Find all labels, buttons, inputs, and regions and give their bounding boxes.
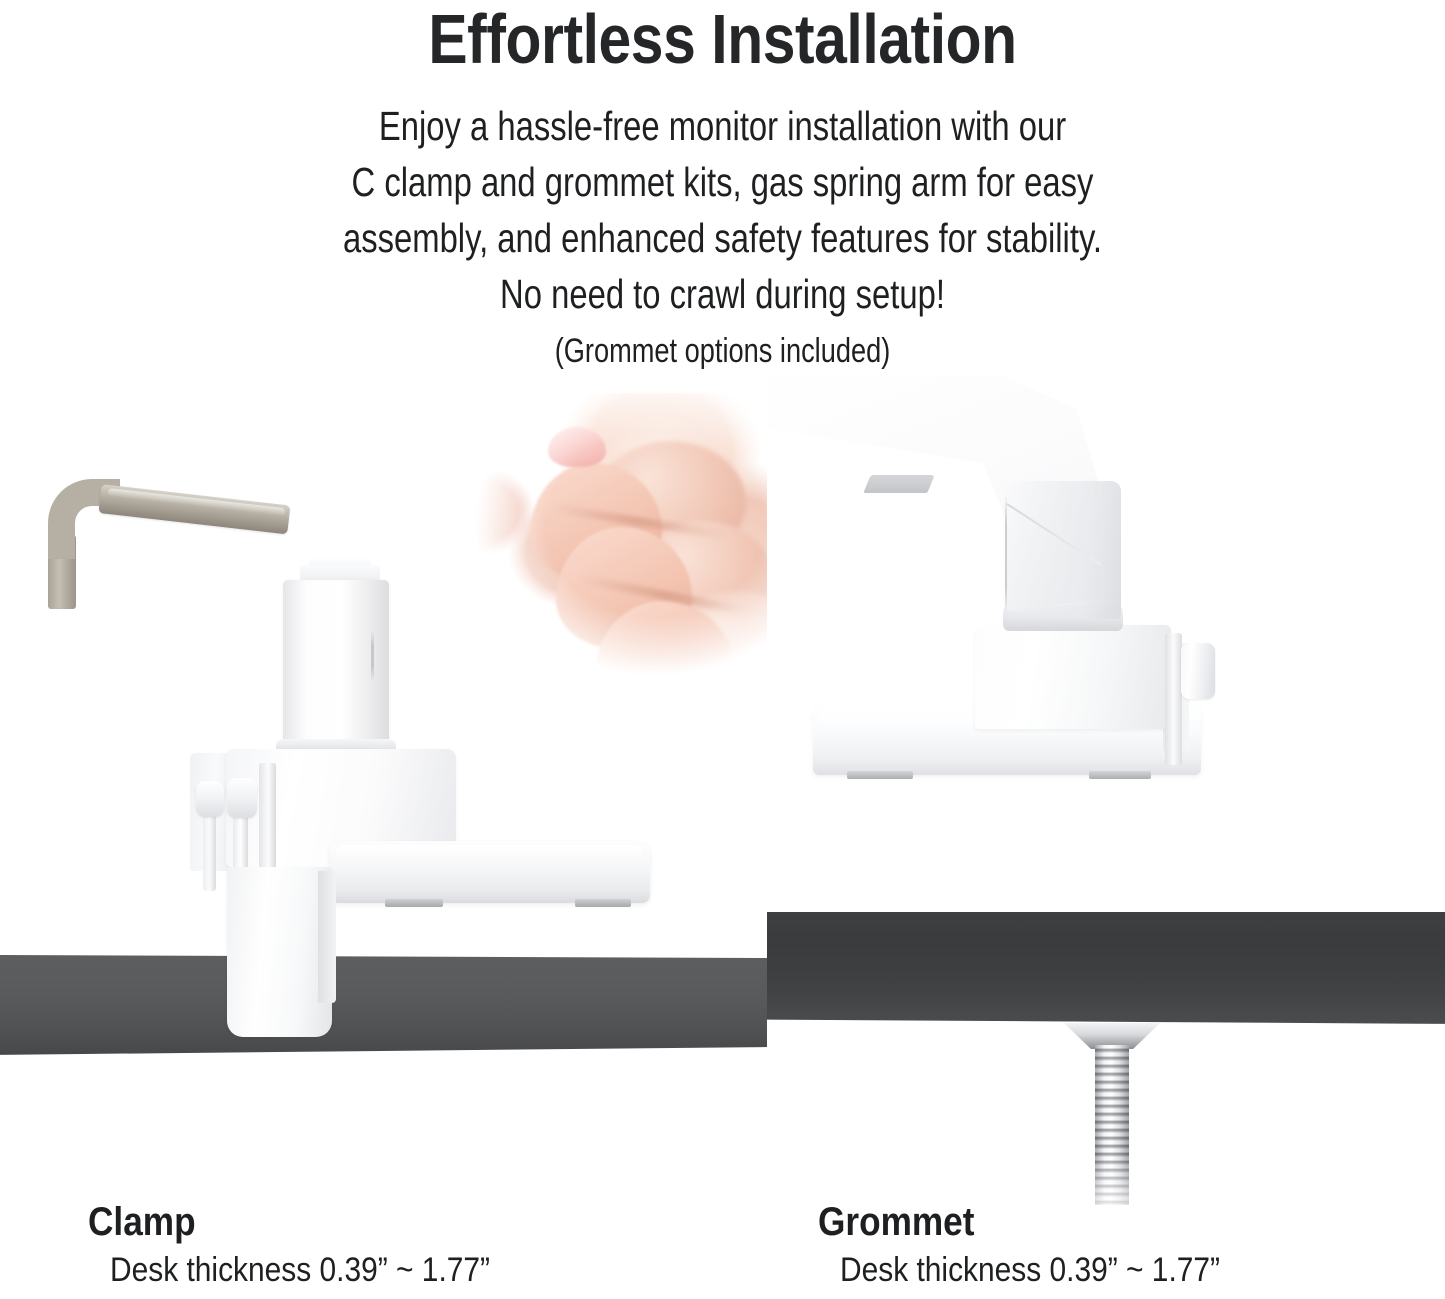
clamp-lever-stem-left (203, 813, 216, 891)
clamp-lever-left (196, 781, 224, 817)
clamp-hook (227, 867, 332, 1037)
clamp-foot-right (575, 899, 631, 907)
desk-surface-clamp (0, 955, 767, 1055)
grommet-label-group: Grommet Desk thickness 0.39” ~ 1.77” (818, 1200, 1272, 1290)
clamp-illustration-panel (0, 375, 767, 1205)
grommet-arm-shading (1003, 481, 1121, 619)
clamp-label-title: Clamp (88, 1200, 487, 1244)
clamp-shelf-highlight (336, 845, 642, 861)
hand-photo (400, 375, 767, 725)
grommet-foot-left (847, 771, 913, 779)
grommet-adjust-knob[interactable] (1181, 643, 1215, 699)
page-subtitle: Enjoy a hassle-free monitor installation… (145, 98, 1301, 322)
grommet-label-spec: Desk thickness 0.39” ~ 1.77” (840, 1250, 1220, 1290)
grommet-arm-fold-line (1005, 493, 1007, 617)
page-title: Effortless Installation (116, 2, 1330, 76)
hand-edge-fade (400, 375, 767, 725)
mount-type-labels: Clamp Desk thickness 0.39” ~ 1.77” Gromm… (0, 1200, 1445, 1299)
clamp-foot-left (385, 899, 443, 907)
product-illustration (0, 375, 1445, 1205)
clamp-lever-right (227, 778, 257, 818)
grommet-foot-right (1089, 771, 1151, 779)
grommet-arm-notch (863, 475, 934, 493)
header: Effortless Installation Enjoy a hassle-f… (0, 0, 1445, 374)
grommet-illustration-panel (767, 375, 1445, 1205)
grommet-threaded-bolt (1095, 1045, 1129, 1205)
clamp-label-group: Clamp Desk thickness 0.39” ~ 1.77” (88, 1200, 542, 1290)
grommet-options-note: (Grommet options included) (145, 328, 1301, 374)
grommet-base (975, 625, 1171, 729)
desk-surface-grommet (767, 912, 1445, 1024)
grommet-label-title: Grommet (818, 1200, 1217, 1244)
grommet-rail (1165, 633, 1182, 765)
clamp-post-seam (371, 630, 374, 682)
clamp-hook-inner-face (318, 871, 336, 1003)
clamp-label-spec: Desk thickness 0.39” ~ 1.77” (110, 1250, 490, 1290)
